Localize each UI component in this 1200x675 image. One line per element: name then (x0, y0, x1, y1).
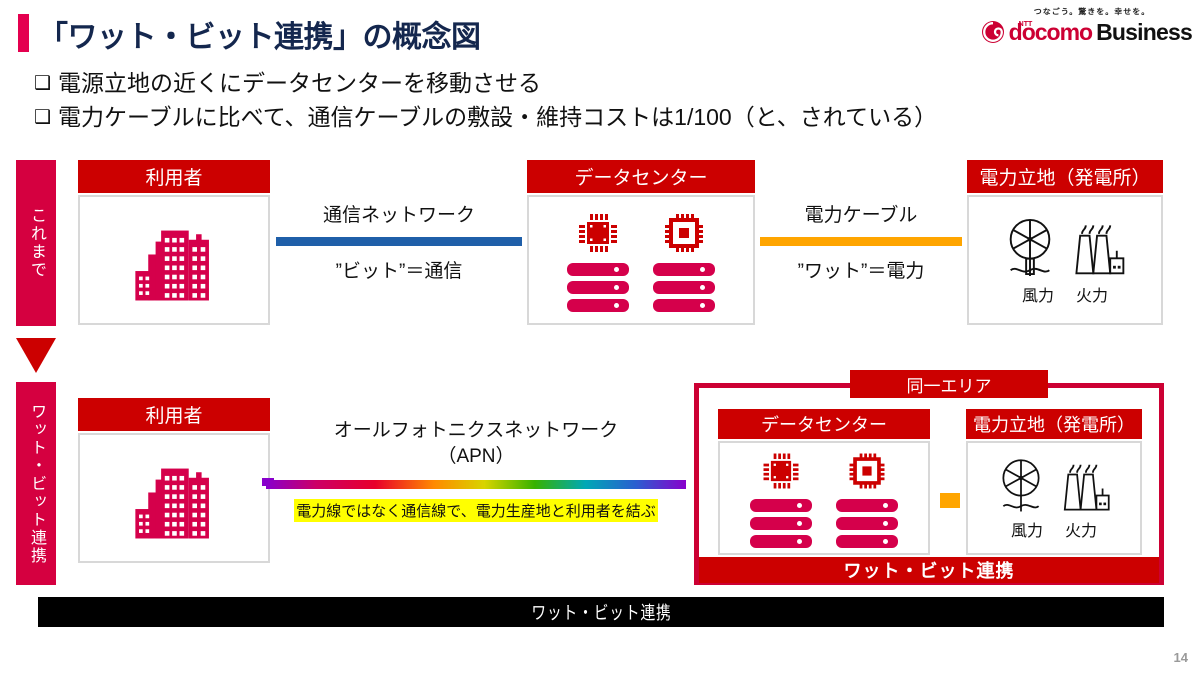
row-label-before: これまで (16, 160, 56, 326)
cpu-chip-outline-icon (844, 448, 890, 494)
cpu-chip-filled-icon (758, 448, 804, 494)
panel-title-datacenter-before: データセンター (527, 160, 755, 193)
bullet-list: ❑ 電源立地の近くにデータセンターを移動させる ❑ 電力ケーブルに比べて、通信ケ… (34, 68, 1164, 136)
panel-title-powerplant-before: 電力立地（発電所） (967, 160, 1163, 193)
page-number: 14 (1174, 650, 1188, 665)
down-arrow-icon (16, 338, 56, 373)
server-chip-icon (836, 448, 898, 548)
title-accent-bar (18, 14, 29, 52)
power-connector-icon (940, 493, 960, 508)
cpu-chip-outline-icon (659, 208, 709, 258)
city-buildings-icon (128, 214, 220, 306)
wind-turbine-icon (994, 455, 1048, 515)
link-note-highlight: 電力線ではなく通信線で、電力生産地と利用者を結ぶ (294, 499, 657, 522)
link-label: 通信ネットワーク (276, 200, 522, 227)
server-rack-icon (836, 535, 898, 548)
link-label: 電力ケーブル (760, 200, 962, 227)
logo-business-text: Business (1096, 20, 1192, 44)
bullet-text: 電力ケーブルに比べて、通信ケーブルの敷設・維持コストは1/100（と、されている… (58, 102, 937, 133)
wind-turbine-icon (1001, 214, 1059, 280)
city-buildings-icon (128, 452, 220, 544)
server-rack-icon (750, 499, 812, 512)
thermal-power-plant-icon (1056, 455, 1114, 515)
panel-title-powerplant-after: 電力立地（発電所） (966, 409, 1142, 439)
page-title: 「ワット・ビット連携」の概念図 (38, 12, 481, 56)
server-rack-icon (750, 517, 812, 530)
list-item: ❑ 電力ケーブルに比べて、通信ケーブルの敷設・維持コストは1/100（と、されて… (34, 102, 1164, 133)
panel-body-powerplant-before: 風力 火力 (967, 195, 1163, 325)
wind-power-label: 風力 (1011, 517, 1043, 541)
server-rack-icon (567, 263, 629, 276)
docomo-circle-mark-icon (981, 20, 1005, 44)
row-label-after: ワット・ビット連携 (16, 382, 56, 585)
link-bar-orange (760, 237, 962, 246)
apn-label-line2: （APN） (266, 444, 686, 470)
checkbox-bullet-icon: ❑ (34, 68, 58, 99)
link-apn: オールフォトニクスネットワーク （APN） 電力線ではなく通信線で、電力生産地と… (266, 418, 686, 522)
docomo-business-logo: つなごう。驚きを。幸せを。 NTT docomo Business (992, 6, 1192, 44)
link-bar-blue (276, 237, 522, 246)
list-item: ❑ 電源立地の近くにデータセンターを移動させる (34, 68, 1164, 99)
bottom-banner-label: ワット・ビット連携 (531, 599, 671, 625)
server-rack-icon (653, 281, 715, 294)
server-rack-icon (836, 499, 898, 512)
checkbox-bullet-icon: ❑ (34, 102, 58, 133)
server-rack-icon (567, 299, 629, 312)
cpu-chip-filled-icon (573, 208, 623, 258)
wind-power-label: 風力 (1022, 282, 1054, 306)
bullet-text: 電源立地の近くにデータセンターを移動させる (58, 68, 541, 99)
server-rack-icon (750, 535, 812, 548)
server-rack-icon (836, 517, 898, 530)
panel-body-user-before (78, 195, 270, 325)
panel-title-user-before: 利用者 (78, 160, 270, 193)
panel-title-datacenter-after: データセンター (718, 409, 930, 439)
same-area-tab-label: 同一エリア (850, 370, 1048, 398)
panel-title-user-after: 利用者 (78, 398, 270, 431)
server-chip-icon (653, 208, 715, 312)
panel-body-datacenter-after (718, 441, 930, 555)
server-rack-icon (653, 263, 715, 276)
link-bar-rainbow (266, 480, 686, 489)
link-sublabel: ”ビット”＝通信 (276, 256, 522, 283)
thermal-power-plant-icon (1067, 214, 1129, 280)
apn-label-line1: オールフォトニクスネットワーク (266, 418, 686, 444)
panel-body-datacenter-before (527, 195, 755, 325)
panel-body-powerplant-after: 風力 火力 (966, 441, 1142, 555)
server-rack-icon (653, 299, 715, 312)
thermal-power-label: 火力 (1076, 282, 1108, 306)
logo-docomo-text: NTT docomo (1009, 20, 1092, 44)
same-area-footer-label: ワット・ビット連携 (699, 557, 1159, 583)
server-chip-icon (567, 208, 629, 312)
server-chip-icon (750, 448, 812, 548)
link-communication-network: 通信ネットワーク ”ビット”＝通信 (276, 200, 522, 283)
server-rack-icon (567, 281, 629, 294)
panel-body-user-after (78, 433, 270, 563)
logo-ntt-text: NTT (1019, 13, 1033, 37)
link-label: オールフォトニクスネットワーク （APN） (266, 418, 686, 470)
link-power-cable: 電力ケーブル ”ワット”＝電力 (760, 200, 962, 283)
link-sublabel: ”ワット”＝電力 (760, 256, 962, 283)
bottom-banner: ワット・ビット連携 (38, 597, 1164, 627)
thermal-power-label: 火力 (1065, 517, 1097, 541)
